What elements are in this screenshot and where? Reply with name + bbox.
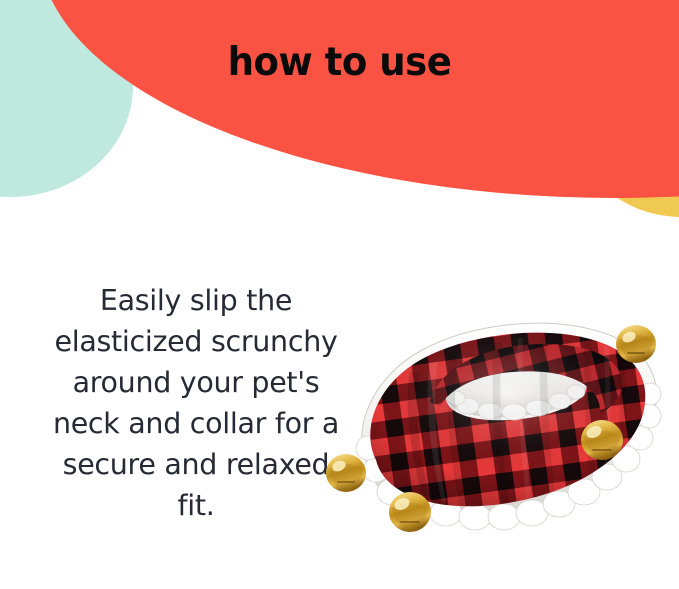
page-title: how to use	[17, 43, 662, 82]
product-image	[318, 310, 679, 575]
header-banner: how to use	[0, 0, 679, 232]
jingle-bell-top-right	[616, 325, 656, 363]
content-section: Easily slip the elasticized scrunchy aro…	[0, 232, 679, 589]
jingle-bell-bottom-left	[326, 454, 366, 492]
decorative-coral-circle	[39, 0, 679, 198]
jingle-bell-right	[581, 420, 623, 460]
instruction-text: Easily slip the elasticized scrunchy aro…	[52, 280, 340, 526]
jingle-bell-bottom-center	[389, 492, 431, 532]
product-image-svg	[318, 310, 679, 575]
